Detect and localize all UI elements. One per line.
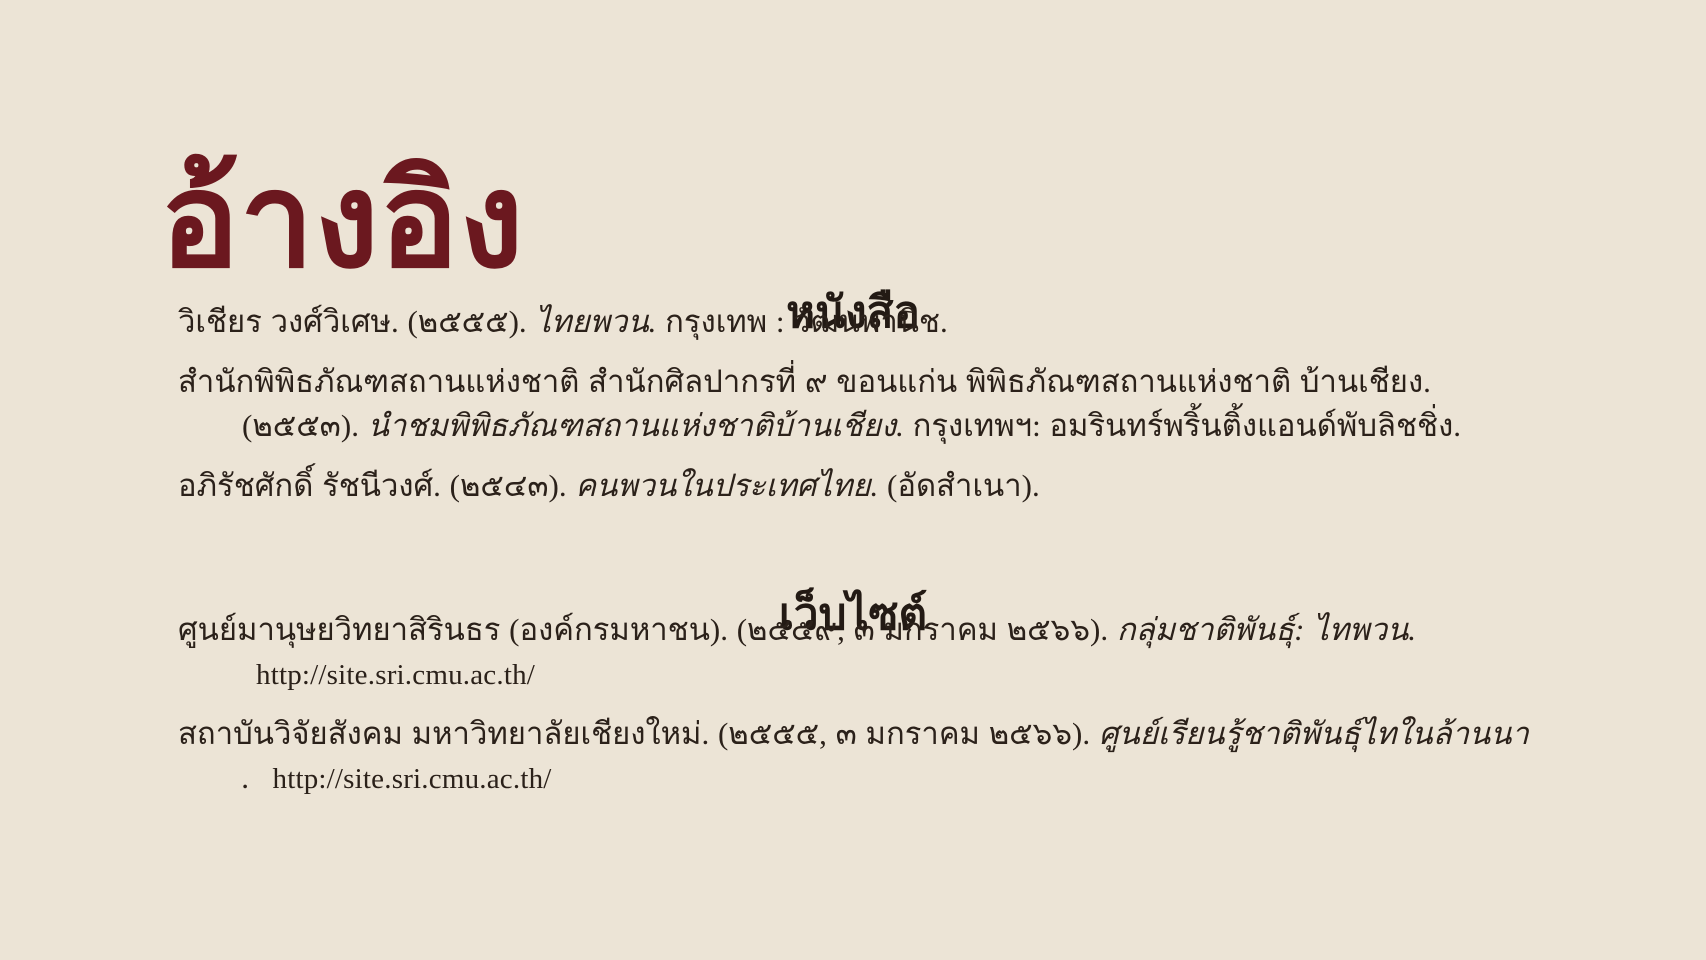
reference-slide: อ้างอิง หนังสือ วิเชียร วงศ์วิเศษ. (๒๕๕๕… [0, 0, 1706, 960]
reference-publication: กรุงเทพ : วัฒนพานิช. [665, 304, 948, 339]
reference-title: กลุ่มชาติพันธุ์: ไทพวน. [1117, 612, 1416, 647]
reference-item: สำนักพิพิธภัณฑสถานแห่งชาติ สำนักศิลปากรท… [178, 360, 1538, 448]
page-title: อ้างอิง [160, 150, 524, 293]
websites-reference-list: ศูนย์มานุษยวิทยาสิรินธร (องค์กรมหาชน). (… [178, 608, 1538, 800]
reference-title: ไทยพวน. [535, 304, 656, 339]
books-reference-list: วิเชียร วงศ์วิเศษ. (๒๕๕๕). ไทยพวน. กรุงเ… [178, 300, 1538, 508]
reference-author-year: อภิรัชศักดิ์ รัชนีวงศ์. (๒๕๔๓). [178, 468, 567, 503]
reference-item: วิเชียร วงศ์วิเศษ. (๒๕๕๕). ไทยพวน. กรุงเ… [178, 300, 1538, 344]
reference-item: สถาบันวิจัยสังคม มหาวิทยาลัยเชียงใหม่. (… [178, 712, 1538, 800]
reference-url[interactable]: http://site.sri.cmu.ac.th/ [256, 659, 535, 691]
reference-url[interactable]: http://site.sri.cmu.ac.th/ [273, 763, 552, 795]
reference-publication: (อัดสำเนา). [887, 468, 1040, 503]
reference-author-year: วิเชียร วงศ์วิเศษ. (๒๕๕๕). [178, 304, 527, 339]
reference-title: คนพวนในประเทศไทย. [575, 468, 878, 503]
reference-author-year: สถาบันวิจัยสังคม มหาวิทยาลัยเชียงใหม่. (… [178, 716, 1090, 751]
reference-item: อภิรัชศักดิ์ รัชนีวงศ์. (๒๕๔๓). คนพวนในป… [178, 464, 1538, 508]
reference-author-year: ศูนย์มานุษยวิทยาสิรินธร (องค์กรมหาชน). (… [178, 612, 1108, 647]
reference-publication: กรุงเทพฯ: อมรินทร์พริ้นติ้งแอนด์พับลิชชิ… [913, 408, 1461, 443]
reference-title: นำชมพิพิธภัณฑสถานแห่งชาติบ้านเชียง. [368, 408, 904, 443]
reference-item: ศูนย์มานุษยวิทยาสิรินธร (องค์กรมหาชน). (… [178, 608, 1538, 696]
